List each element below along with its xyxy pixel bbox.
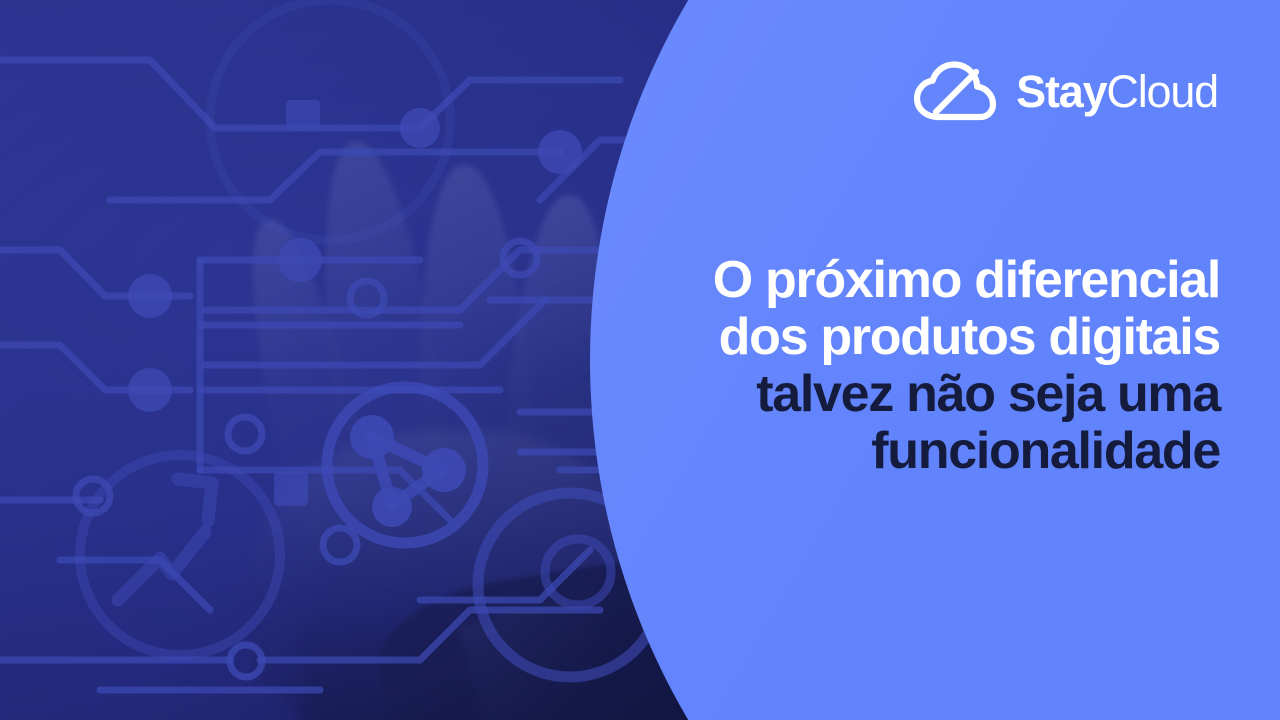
headline-line-3: talvez não seja uma [580, 366, 1220, 423]
growth-arrow-circle-icon [80, 455, 280, 655]
brand-name-stay: Stay [1016, 66, 1106, 117]
cloud-slash-icon [914, 60, 998, 122]
slide-canvas: StayCloud O próximo diferencial dos prod… [0, 0, 1280, 720]
brand-logo[interactable]: StayCloud [914, 60, 1218, 122]
brand-wordmark: StayCloud [1016, 69, 1218, 114]
headline-line-1: O próximo diferencial [580, 252, 1220, 309]
brand-name-cloud: Cloud [1106, 66, 1218, 117]
headline-line-4: funcionalidade [580, 423, 1220, 480]
share-network-circle-icon [327, 387, 483, 543]
headline-block: O próximo diferencial dos produtos digit… [580, 252, 1220, 480]
headline-line-2: dos produtos digitais [580, 309, 1220, 366]
